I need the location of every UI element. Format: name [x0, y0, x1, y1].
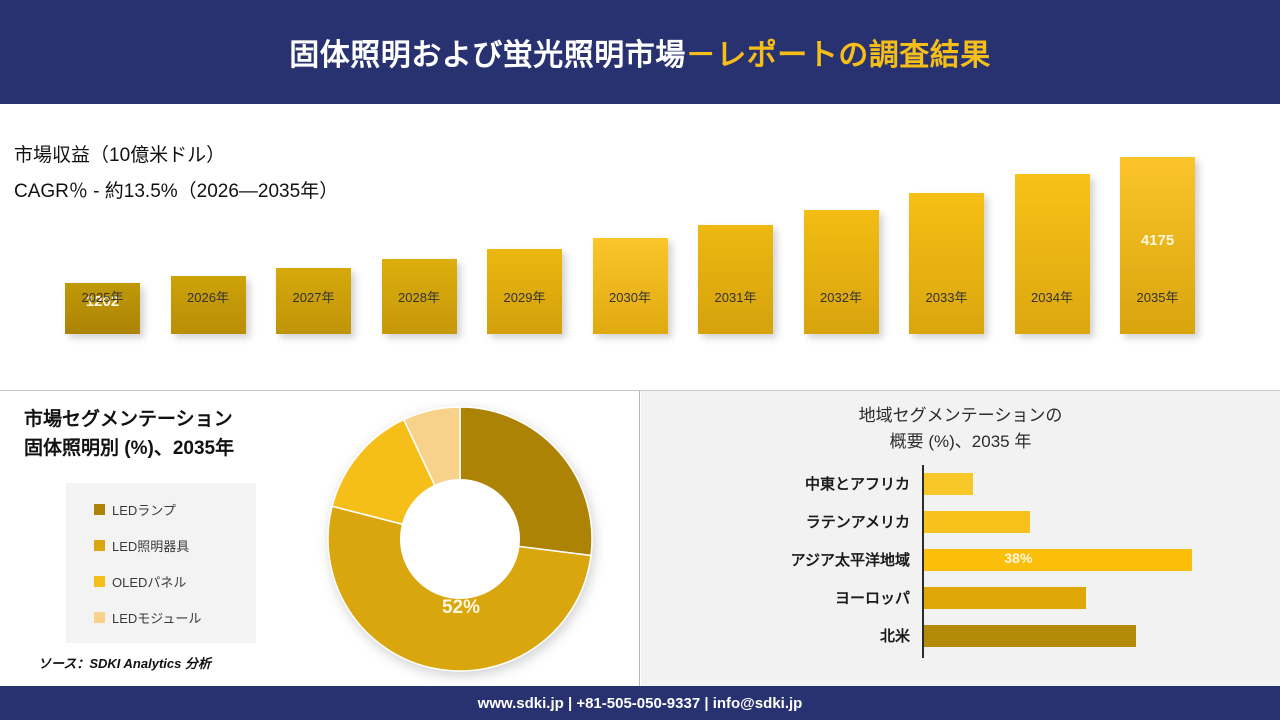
bar-x-label: 2032年 — [804, 287, 879, 306]
legend-item-label: LEDモジュール — [112, 608, 201, 627]
bar — [909, 193, 984, 334]
bar-x-label: 2033年 — [909, 287, 984, 306]
bar-x-label: 2027年 — [276, 287, 351, 306]
header-band: 固体照明および蛍光照明市場－レポートの調査結果 — [0, 0, 1280, 104]
legend-swatch-icon — [94, 612, 105, 623]
revenue-bar-chart: 12022025年2026年2027年2028年2029年2030年2031年2… — [0, 104, 1280, 390]
revenue-chart-section: 市場収益（10億米ドル） CAGR％ - 約13.5%（2026―2035年） … — [0, 104, 1280, 390]
legend-swatch-icon — [94, 576, 105, 587]
footer-contact-text: www.sdki.jp | +81-505-050-9337 | info@sd… — [478, 695, 803, 712]
legend-item[interactable]: OLEDパネル — [94, 572, 256, 591]
region-panel: 地域セグメンテーションの 概要 (%)、2035 年 中東とアフリカラテンアメリ… — [641, 391, 1280, 686]
region-title: 地域セグメンテーションの 概要 (%)、2035 年 — [641, 403, 1280, 454]
legend-swatch-icon — [94, 504, 105, 515]
region-bar[interactable] — [924, 511, 1030, 533]
page-title-accent: －レポートの調査結果 — [686, 39, 991, 72]
region-value-label: 38% — [1004, 550, 1032, 566]
region-title-line2: 概要 (%)、2035 年 — [641, 429, 1280, 455]
region-bar-chart: 中東とアフリカラテンアメリカアジア太平洋地域38%ヨーロッパ北米 — [641, 465, 1280, 665]
region-label: 北米 — [880, 625, 910, 646]
region-row: ラテンアメリカ — [641, 505, 1280, 543]
legend-item[interactable]: LEDモジュール — [94, 608, 256, 627]
page-title-main: 固体照明および蛍光照明市場 — [289, 39, 686, 72]
bar-value-label: 4175 — [1120, 232, 1195, 249]
bar-x-label: 2030年 — [593, 287, 668, 306]
region-label: 中東とアフリカ — [805, 473, 910, 494]
segmentation-title: 市場セグメンテーション 固体照明別 (%)、2035年 — [24, 405, 234, 464]
bar-x-label: 2034年 — [1015, 287, 1090, 306]
segmentation-panel: 市場セグメンテーション 固体照明別 (%)、2035年 LEDランプLED照明器… — [0, 391, 640, 686]
legend-item-label: LED照明器具 — [112, 536, 189, 555]
bar — [1015, 174, 1090, 334]
bar-x-label: 2029年 — [487, 287, 562, 306]
donut-svg — [326, 405, 594, 673]
region-bar[interactable] — [924, 549, 1192, 571]
legend-swatch-icon — [94, 540, 105, 551]
bar — [698, 225, 773, 334]
bar-x-label: 2031年 — [698, 287, 773, 306]
segmentation-title-line1: 市場セグメンテーション — [24, 405, 234, 434]
region-row: 北米 — [641, 619, 1280, 657]
bar-x-label: 2035年 — [1120, 287, 1195, 306]
region-label: ラテンアメリカ — [806, 511, 910, 532]
region-row: ヨーロッパ — [641, 581, 1280, 619]
legend-item-label: LEDランプ — [112, 500, 176, 519]
segmentation-title-line2: 固体照明別 (%)、2035年 — [24, 434, 234, 463]
bar-x-label: 2026年 — [171, 287, 246, 306]
region-bar[interactable] — [924, 587, 1086, 609]
legend-item[interactable]: LED照明器具 — [94, 536, 256, 555]
page-title: 固体照明および蛍光照明市場－レポートの調査結果 — [289, 30, 991, 74]
region-label: アジア太平洋地域 — [791, 549, 910, 570]
region-row: 中東とアフリカ — [641, 467, 1280, 505]
bar — [593, 238, 668, 334]
bar-x-label: 2025年 — [65, 287, 140, 306]
region-label: ヨーロッパ — [835, 587, 910, 608]
bar-x-label: 2028年 — [382, 287, 457, 306]
bar — [804, 210, 879, 334]
region-bar[interactable] — [924, 473, 973, 495]
legend-item-label: OLEDパネル — [112, 572, 186, 591]
source-note: ソース：SDKI Analytics 分析 — [38, 653, 211, 672]
donut-legend: LEDランプLED照明器具OLEDパネルLEDモジュール — [66, 483, 256, 643]
region-bar[interactable] — [924, 625, 1136, 647]
region-row: アジア太平洋地域38% — [641, 543, 1280, 581]
footer-band: www.sdki.jp | +81-505-050-9337 | info@sd… — [0, 686, 1280, 720]
region-title-line1: 地域セグメンテーションの — [641, 403, 1280, 429]
donut-hole — [400, 479, 520, 599]
legend-item[interactable]: LEDランプ — [94, 500, 256, 519]
donut-chart — [326, 405, 594, 673]
